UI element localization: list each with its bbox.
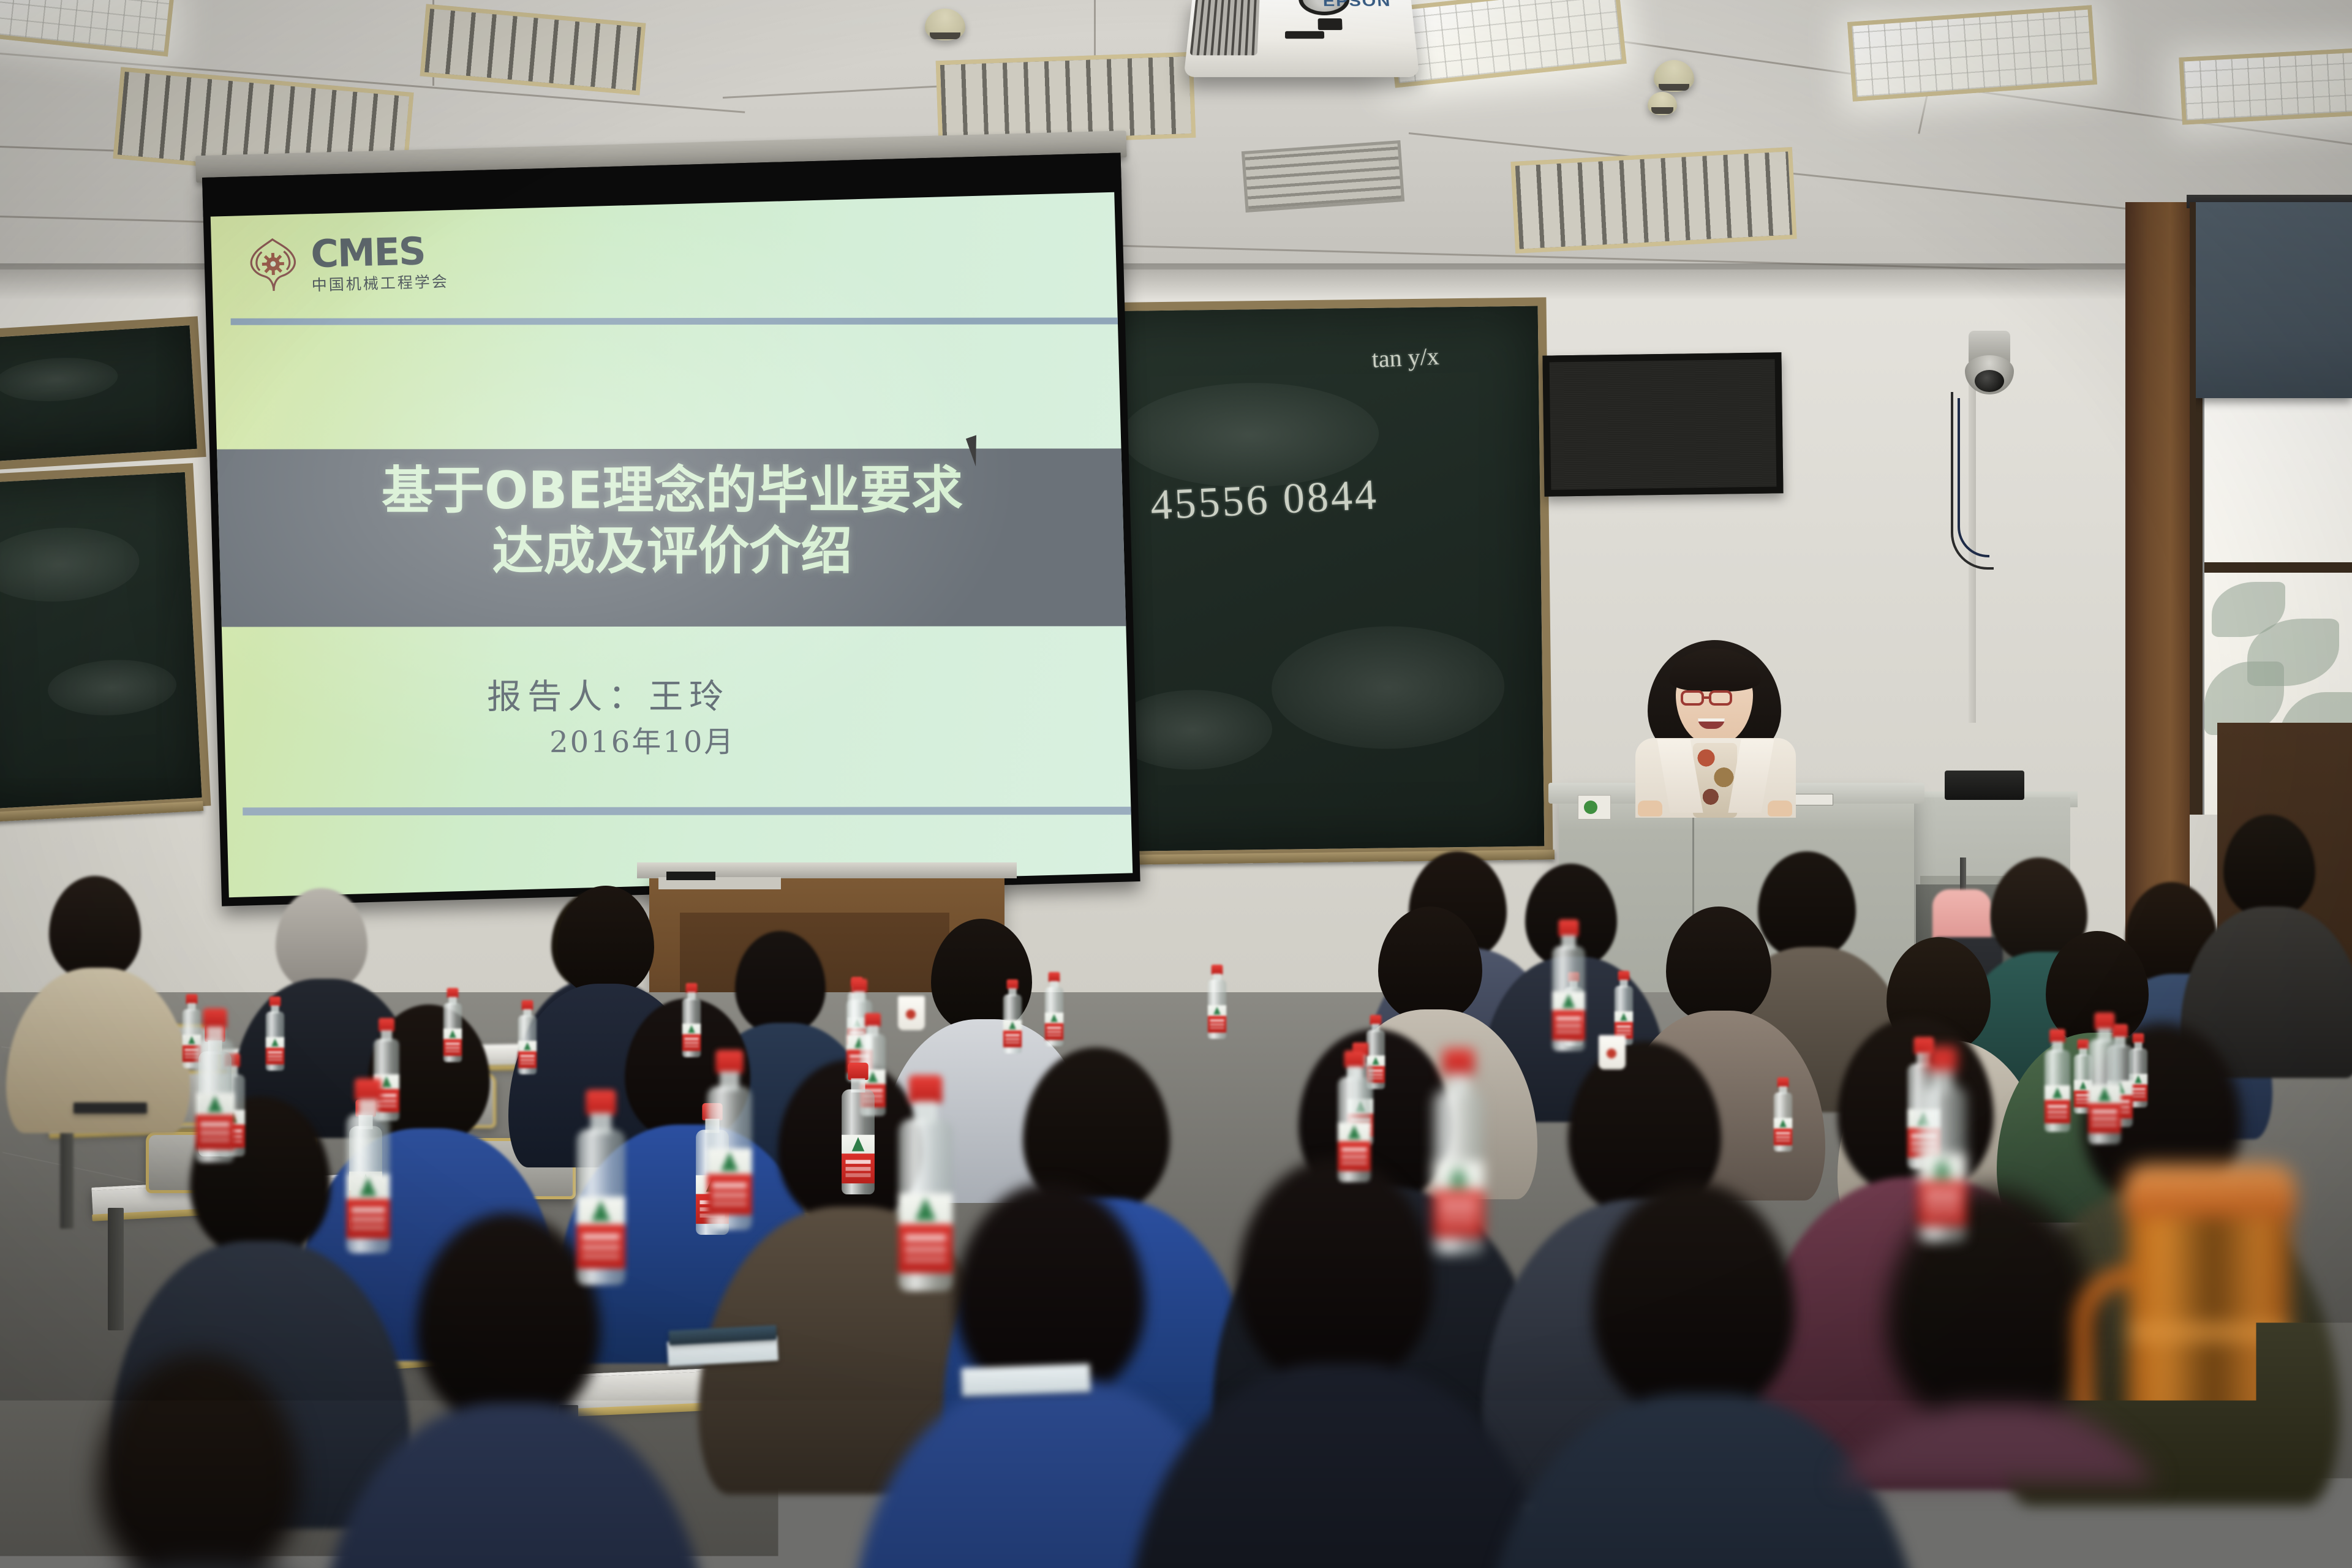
water-bottle[interactable]: [346, 1078, 390, 1253]
slide-title-line1: 基于OBE理念的毕业要求: [219, 460, 1125, 521]
slide-title: 基于OBE理念的毕业要求 达成及评价介绍: [219, 460, 1125, 582]
cmes-logo: CMES 中国机械工程学会: [243, 231, 449, 295]
presentation-slide: CMES 中国机械工程学会 基于OBE理念的毕业要求 达成及评价介绍 报告人：王…: [211, 192, 1133, 898]
water-bottle[interactable]: [576, 1090, 625, 1285]
ceiling-vent: [1242, 140, 1404, 213]
glasses-icon: [1709, 690, 1732, 706]
water-bottle[interactable]: [707, 1050, 752, 1230]
water-bottle[interactable]: [518, 1000, 537, 1074]
window-roller-blind[interactable]: [2196, 202, 2352, 398]
presenter-hand: [1638, 801, 1662, 816]
glasses-icon: [1681, 690, 1704, 706]
blackboard-chalk-number: 45556 0844: [1150, 470, 1380, 530]
projection-screen: CMES 中国机械工程学会 基于OBE理念的毕业要求 达成及评价介绍 报告人：王…: [202, 153, 1140, 906]
cmes-abbrev: CMES: [311, 232, 449, 273]
water-bottle[interactable]: [2045, 1029, 2070, 1132]
water-bottle[interactable]: [196, 1008, 235, 1163]
blackboard-left-upper: [0, 316, 206, 471]
lecture-hall-scene: EPSON tan y/x 45556 0844: [0, 0, 2352, 1568]
tumbler-lid[interactable]: [2123, 1164, 2296, 1218]
ceiling-grille-light: [1510, 147, 1796, 254]
orange-tea-tumbler[interactable]: [2112, 1164, 2308, 1507]
water-bottle[interactable]: [1338, 1050, 1371, 1182]
water-bottle[interactable]: [1552, 919, 1585, 1051]
presenter-speaker: [1629, 640, 1801, 805]
water-bottle[interactable]: [443, 988, 462, 1062]
slide-rule-top: [231, 317, 1125, 325]
notebook[interactable]: [73, 1102, 147, 1114]
paper-cup[interactable]: [1599, 1035, 1626, 1069]
slide-rule-bottom: [243, 807, 1133, 815]
camera-cable-blue: [1958, 398, 1989, 557]
water-bottle[interactable]: [1615, 971, 1633, 1045]
projector-vent: [1189, 0, 1259, 55]
water-bottle[interactable]: [682, 983, 701, 1057]
slide-presenter: 报告人：王玲: [487, 669, 916, 719]
water-bottle[interactable]: [1433, 1049, 1484, 1254]
water-bottle[interactable]: [1918, 1047, 1967, 1242]
desk-leg: [60, 1131, 73, 1229]
desk-leg: [108, 1208, 124, 1330]
water-bottle[interactable]: [1208, 965, 1226, 1039]
slide-title-line2: 达成及评价介绍: [219, 521, 1125, 582]
cmes-org-name: 中国机械工程学会: [311, 274, 449, 293]
presenter-hand: [1768, 801, 1792, 816]
water-bottle[interactable]: [266, 997, 284, 1071]
smoke-detector-icon: [1648, 92, 1677, 115]
ceiling-light-panel: [1847, 5, 2097, 102]
notebook[interactable]: [961, 1363, 1090, 1396]
paper-cup[interactable]: [898, 996, 925, 1030]
cmes-logo-mark-icon: [243, 235, 304, 296]
water-bottle[interactable]: [899, 1075, 952, 1291]
wood-lectern-slot: [666, 872, 715, 880]
water-bottle[interactable]: [1003, 979, 1022, 1053]
blackboard-right: tan y/x 45556 0844: [1074, 297, 1553, 860]
screen-border: CMES 中国机械工程学会 基于OBE理念的毕业要求 达成及评价介绍 报告人：王…: [202, 153, 1140, 906]
tumbler-band: [2128, 1324, 2291, 1340]
water-bottle[interactable]: [1045, 972, 1063, 1046]
ceiling-light-panel: [2179, 48, 2352, 125]
podium-equipment: [1945, 771, 2024, 800]
water-bottle[interactable]: [842, 1063, 875, 1194]
wall-led-display: [1542, 352, 1783, 496]
podium-sticker: [1578, 795, 1611, 820]
ceiling-projector: EPSON: [1183, 0, 1419, 77]
blackboard-chalk-formula: tan y/x: [1371, 342, 1440, 374]
slide-date: 2016年10月: [549, 717, 978, 761]
glasses-bridge: [1704, 696, 1710, 699]
projector-brand-label: EPSON: [1323, 0, 1392, 10]
blackboard-left-lower: [0, 463, 211, 818]
tumbler-body: [2128, 1213, 2291, 1507]
water-bottle[interactable]: [1774, 1077, 1792, 1151]
water-bottle[interactable]: [2088, 1012, 2121, 1144]
